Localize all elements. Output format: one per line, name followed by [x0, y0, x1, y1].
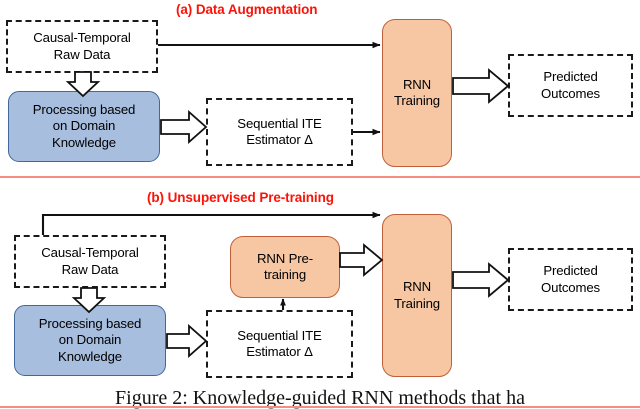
node-label-line2: Estimator Δ	[234, 344, 324, 360]
node-sequential-ite-estimator-b: Sequential ITE Estimator Δ	[206, 310, 353, 378]
block-arrow-processing-to-estimator-a	[161, 112, 206, 142]
node-label-line1: Causal-Temporal	[30, 30, 133, 46]
panel-a-title: (a) Data Augmentation	[176, 2, 317, 17]
node-label-line1: Predicted	[538, 263, 603, 279]
node-rnn-pretraining-b: RNN Pre- training	[230, 236, 340, 298]
block-arrow-rnntraining-to-predicted-b	[453, 264, 508, 296]
node-label-line2: Training	[391, 93, 443, 109]
block-arrow-processing-to-estimator-b	[167, 326, 206, 356]
node-label-line2: Outcomes	[538, 280, 603, 296]
arrow-rawdata-to-rnntraining-b	[43, 215, 380, 235]
node-causal-temporal-raw-data-b: Causal-Temporal Raw Data	[14, 235, 166, 288]
node-label-line1: RNN	[391, 279, 443, 295]
node-label-line1: Sequential ITE	[234, 328, 324, 344]
block-arrow-rnntraining-to-predicted-a	[453, 70, 508, 102]
node-predicted-outcomes-a: Predicted Outcomes	[508, 54, 633, 117]
node-label-line2: Raw Data	[30, 47, 133, 63]
node-label-line3: Knowledge	[30, 135, 138, 151]
node-label-line2: Outcomes	[538, 86, 603, 102]
node-label-line2: training	[254, 267, 316, 283]
node-processing-domain-knowledge-b: Processing based on Domain Knowledge	[14, 305, 166, 376]
node-label-line3: Knowledge	[36, 349, 144, 365]
node-label-line1: Sequential ITE	[234, 116, 324, 132]
node-label-line1: Causal-Temporal	[38, 245, 141, 261]
node-processing-domain-knowledge-a: Processing based on Domain Knowledge	[8, 91, 160, 162]
node-label-line2: Raw Data	[38, 262, 141, 278]
node-label-line1: RNN Pre-	[254, 251, 316, 267]
panel-unsupervised-pretraining: (b) Unsupervised Pre-training Causal-Tem…	[0, 188, 640, 373]
panel-data-augmentation: (a) Data Augmentation Causal-Temporal Ra…	[0, 0, 640, 172]
node-label-line1: RNN	[391, 77, 443, 93]
node-causal-temporal-raw-data-a: Causal-Temporal Raw Data	[6, 20, 158, 73]
bottom-divider-line	[0, 406, 640, 408]
node-predicted-outcomes-b: Predicted Outcomes	[508, 248, 633, 311]
panel-b-title: (b) Unsupervised Pre-training	[147, 190, 334, 205]
block-arrow-pretraining-to-rnntraining-b	[340, 245, 382, 275]
node-rnn-training-b: RNN Training	[382, 214, 452, 377]
section-divider-line	[0, 176, 640, 178]
node-label-line1: Predicted	[538, 69, 603, 85]
node-label-line1: Processing based	[30, 102, 138, 118]
node-sequential-ite-estimator-a: Sequential ITE Estimator Δ	[206, 98, 353, 166]
node-label-line2: Estimator Δ	[234, 132, 324, 148]
node-rnn-training-a: RNN Training	[382, 19, 452, 167]
node-label-line1: Processing based	[36, 316, 144, 332]
node-label-line2: Training	[391, 296, 443, 312]
node-label-line2: on Domain	[36, 332, 144, 348]
node-label-line2: on Domain	[30, 118, 138, 134]
figure-canvas: (a) Data Augmentation Causal-Temporal Ra…	[0, 0, 640, 409]
